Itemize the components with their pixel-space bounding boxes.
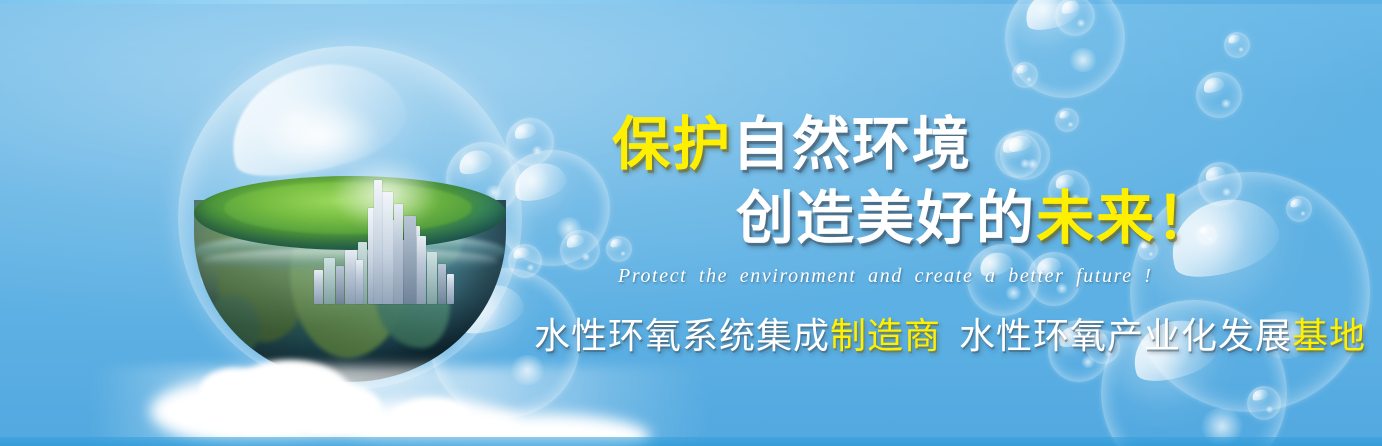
subline: 水性环氧系统集成制造商水性环氧产业化发展基地	[534, 318, 1366, 354]
bottom-edge-band	[0, 437, 1382, 446]
eco-promo-banner: 保护自然环境 创造美好的未来！ Protect the environment …	[0, 0, 1382, 446]
headline-line1-yellow: 保护	[612, 112, 732, 177]
subline-part2-white: 水性环氧产业化发展	[959, 315, 1292, 356]
headline-line2-white: 创造美好的	[736, 186, 1036, 251]
bubble-icon	[606, 236, 632, 262]
tagline-english: Protect the environment and create a bet…	[618, 265, 1153, 288]
earth-bubble-artwork	[178, 46, 522, 390]
subline-part1-yellow: 制造商	[830, 315, 941, 356]
bubble-icon	[1224, 32, 1250, 58]
bubble-icon	[1012, 62, 1038, 88]
headline-line2-yellow: 未来！	[1036, 186, 1216, 251]
bubble-icon	[1055, 108, 1079, 132]
earth-hemisphere	[194, 176, 506, 382]
city-skyline	[312, 178, 454, 304]
subline-part2-yellow: 基地	[1292, 315, 1366, 356]
bubble-icon	[1286, 196, 1312, 222]
top-edge-strip	[0, 0, 1382, 4]
headline-line1-white: 自然环境	[732, 112, 972, 177]
bubble-icon	[560, 230, 600, 270]
bubble-icon	[506, 118, 554, 166]
bubble-icon	[995, 132, 1041, 178]
headline-line-2: 创造美好的未来！	[736, 190, 1216, 248]
headline-line-1: 保护自然环境	[612, 116, 972, 174]
subline-part1-white: 水性环氧系统集成	[534, 315, 830, 356]
bubble-icon	[1196, 72, 1242, 118]
